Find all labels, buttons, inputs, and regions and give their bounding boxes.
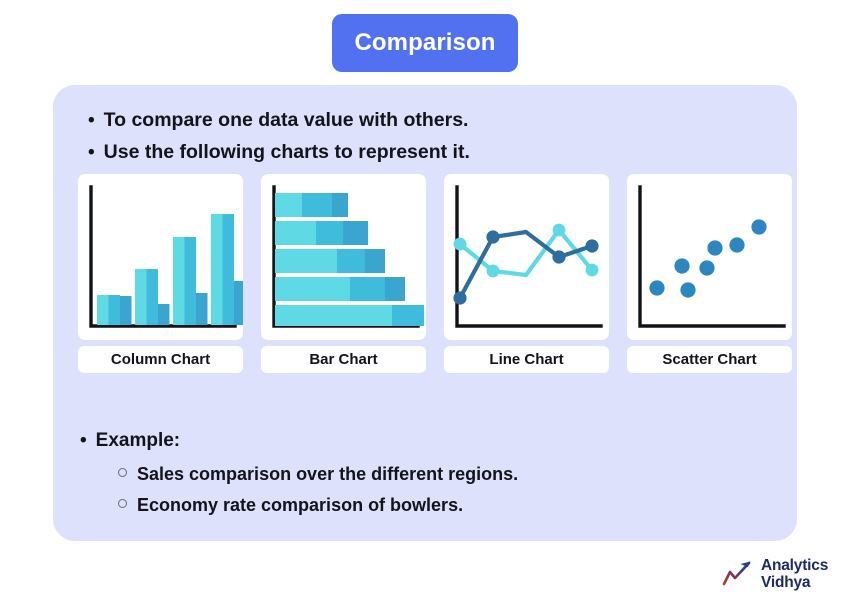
intro-bullet-list: • To compare one data value with others.… (88, 105, 708, 169)
list-item: Economy rate comparison of bowlers. (118, 490, 720, 521)
example-item-text: Economy rate comparison of bowlers. (137, 490, 463, 521)
chart-label-text: Bar Chart (309, 351, 377, 368)
column-chart-figure (78, 174, 243, 340)
bullet-text: To compare one data value with others. (104, 105, 469, 135)
list-item: • Example: (80, 427, 720, 455)
analytics-vidhya-arrow-icon (722, 559, 756, 589)
brand-logo-text: Analytics Vidhya (761, 557, 828, 591)
chart-label-text: Column Chart (111, 351, 210, 368)
line-chart-card (444, 174, 609, 340)
scatter-chart-card (627, 174, 792, 340)
bullet-circle-icon (118, 468, 127, 477)
example-sub-list: Sales comparison over the different regi… (118, 459, 720, 521)
example-section: • Example: Sales comparison over the dif… (80, 427, 720, 521)
brand-logo[interactable]: Analytics Vidhya (722, 554, 842, 594)
chart-gallery: Column Chart (78, 174, 792, 382)
chart-label-column: Column Chart (78, 346, 243, 373)
chart-label-bar: Bar Chart (261, 346, 426, 373)
chart-cell-bar[interactable]: Bar Chart (261, 174, 426, 373)
chart-label-scatter: Scatter Chart (627, 346, 792, 373)
line-chart-figure (444, 174, 609, 340)
list-item: • Use the following charts to represent … (88, 137, 708, 167)
bullet-circle-icon (118, 499, 127, 508)
bullet-dot-icon: • (80, 431, 87, 450)
chart-label-line: Line Chart (444, 346, 609, 373)
brand-line-1: Analytics (761, 557, 828, 574)
example-bullet-list: • Example: (80, 427, 720, 455)
bar-chart-card (261, 174, 426, 340)
chart-label-text: Line Chart (489, 351, 563, 368)
example-heading: Example: (96, 427, 180, 455)
slide-title-pill: Comparison (332, 14, 518, 72)
scatter-chart-figure (627, 174, 792, 340)
chart-cell-scatter[interactable]: Scatter Chart (627, 174, 792, 373)
chart-cell-column[interactable]: Column Chart (78, 174, 243, 373)
chart-label-text: Scatter Chart (662, 351, 756, 368)
column-chart-card (78, 174, 243, 340)
chart-cell-line[interactable]: Line Chart (444, 174, 609, 373)
bullet-text: Use the following charts to represent it… (104, 137, 470, 167)
list-item: • To compare one data value with others. (88, 105, 708, 135)
list-item: Sales comparison over the different regi… (118, 459, 720, 490)
page-title: Comparison (354, 29, 495, 57)
example-item-text: Sales comparison over the different regi… (137, 459, 518, 490)
brand-line-2: Vidhya (761, 574, 828, 591)
bullet-dot-icon: • (88, 111, 95, 130)
bar-chart-figure (261, 174, 426, 340)
bullet-dot-icon: • (88, 143, 95, 162)
